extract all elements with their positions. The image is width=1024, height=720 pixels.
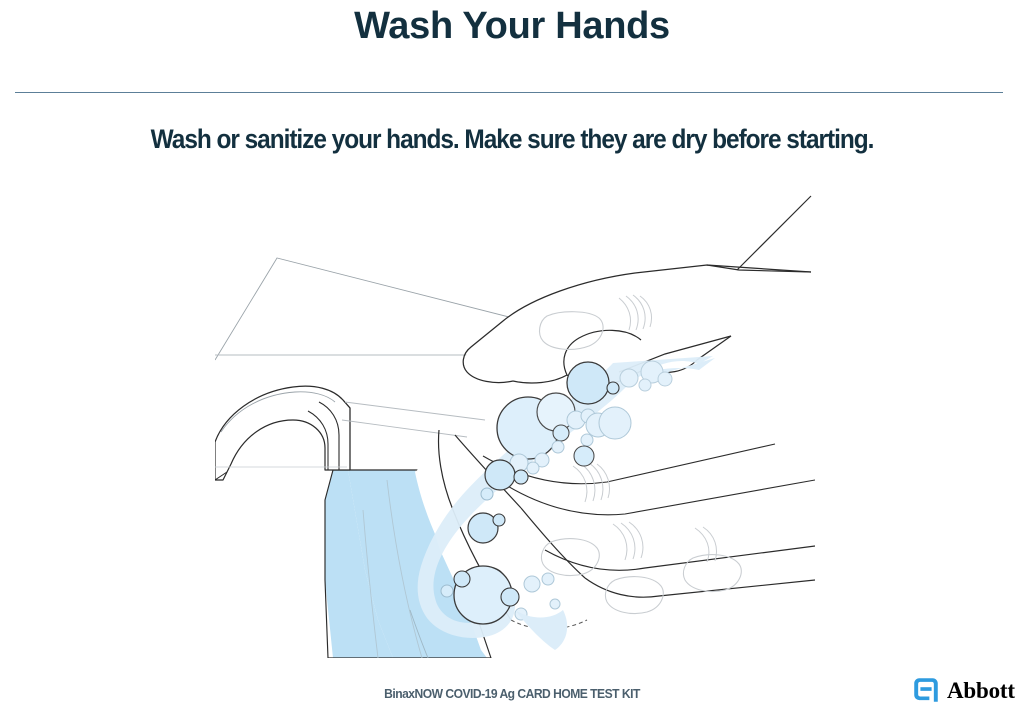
faucet-spout: [215, 386, 350, 480]
abbott-logo: Abbott: [912, 673, 1015, 707]
hands-washing-illustration-svg: [215, 180, 815, 670]
abbott-wordmark: Abbott: [947, 679, 1015, 702]
page-title: Wash Your Hands: [0, 4, 1024, 48]
upper-hand: [463, 196, 815, 386]
abbott-symbol-icon: [912, 676, 940, 704]
instruction-text: Wash or sanitize your hands. Make sure t…: [49, 123, 976, 155]
kit-name-footer: BinaxNOW COVID-19 Ag CARD HOME TEST KIT: [36, 686, 988, 702]
hands-washing-illustration: [215, 180, 815, 670]
title-divider: [15, 92, 1003, 93]
slide-page: Wash Your Hands Wash or sanitize your ha…: [0, 0, 1024, 720]
